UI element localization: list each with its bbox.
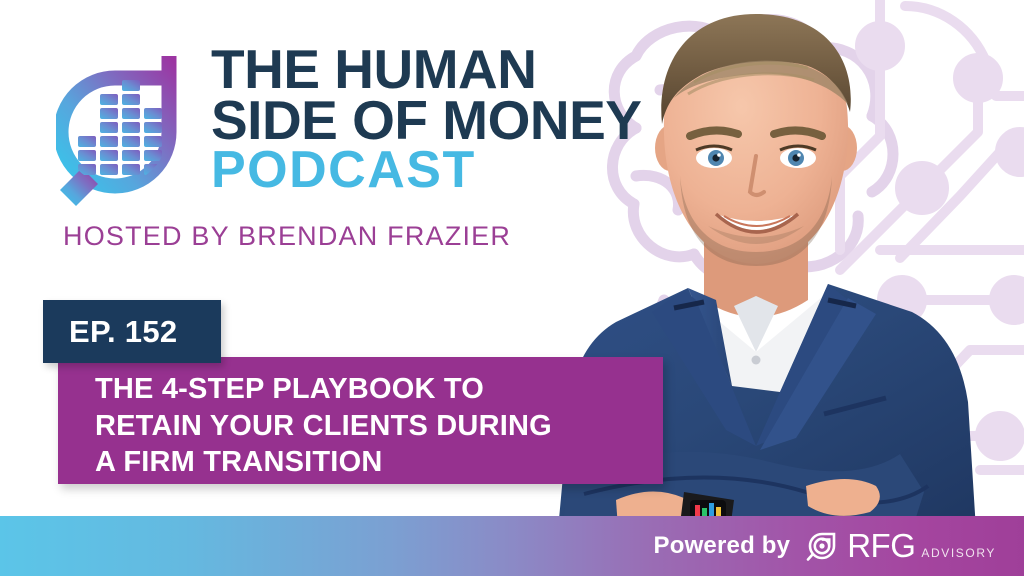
hosted-by-label: HOSTED BY BRENDAN FRAZIER [63, 221, 511, 252]
wordmark-line-2: SIDE OF MONEY [211, 95, 671, 146]
episode-title-box: THE 4-STEP PLAYBOOK TO RETAIN YOUR CLIEN… [58, 357, 663, 484]
episode-title-line-1: THE 4-STEP PLAYBOOK TO [95, 371, 663, 408]
powered-by-group: Powered by RFG ADVISORY [654, 527, 1024, 565]
podcast-wordmark: THE HUMAN SIDE OF MONEY PODCAST [211, 44, 671, 195]
episode-number-text: EP. 152 [43, 314, 177, 350]
episode-title-line-3: A FIRM TRANSITION [95, 444, 663, 481]
episode-title-line-2: RETAIN YOUR CLIENTS DURING [95, 408, 663, 445]
rfg-swirl-icon [804, 528, 840, 564]
sponsor-subtitle: ADVISORY [921, 546, 996, 565]
sponsor-name: RFG [847, 527, 915, 565]
powered-by-label: Powered by [654, 532, 791, 560]
wordmark-line-3: PODCAST [211, 147, 671, 195]
podcast-logo-mark [56, 44, 208, 206]
wordmark-line-1: THE HUMAN [211, 44, 671, 95]
podcast-episode-cover: THE HUMAN SIDE OF MONEY PODCAST HOSTED B… [0, 0, 1024, 576]
episode-number-badge: EP. 152 [43, 300, 221, 363]
sponsor-footer-bar: Powered by RFG ADVISORY [0, 516, 1024, 576]
